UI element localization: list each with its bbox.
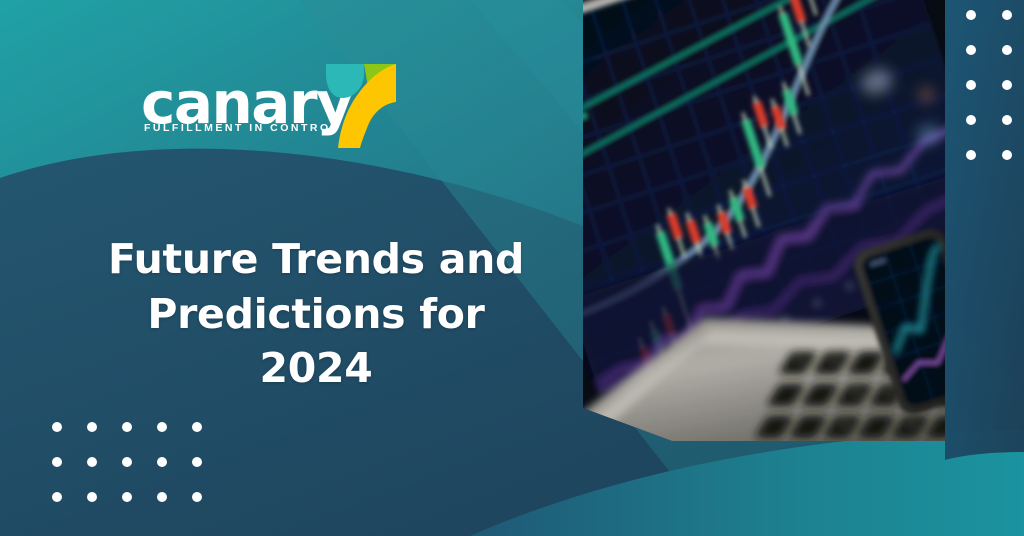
canary7-seven-mark-icon [324,58,402,150]
page-title: Future Trends and Predictions for 2024 [96,232,536,396]
decorative-dot [157,422,167,432]
decorative-dot [966,10,976,20]
decorative-dot [966,45,976,55]
decorative-dot [157,457,167,467]
logo-tagline: FULFILLMENT IN CONTROL [144,122,340,134]
decorative-dot [192,422,202,432]
price-readout-text [530,113,586,135]
canary7-logo[interactable]: canary FULFILLMENT IN CONTROL [141,68,401,148]
dot-grid-top-right [966,10,1012,160]
decorative-dot [52,457,62,467]
decorative-dot [157,492,167,502]
decorative-dot [1002,80,1012,90]
decorative-dot [52,422,62,432]
decorative-dot [52,492,62,502]
decorative-dot [87,457,97,467]
blog-hero-banner: canary FULFILLMENT IN CONTROL Future Tre… [0,0,1024,536]
decorative-dot [966,115,976,125]
mark-teal-shape [326,64,364,98]
decorative-dot [122,492,132,502]
decorative-dot [966,80,976,90]
dot-grid-bottom-left [52,422,202,502]
decorative-dot [1002,115,1012,125]
decorative-dot [122,457,132,467]
decorative-dot [1002,45,1012,55]
decorative-dot [1002,150,1012,160]
decorative-dot [966,150,976,160]
decorative-dot [122,422,132,432]
decorative-dot [87,422,97,432]
decorative-dot [1002,10,1012,20]
decorative-dot [192,492,202,502]
decorative-dot [87,492,97,502]
decorative-dot [192,457,202,467]
